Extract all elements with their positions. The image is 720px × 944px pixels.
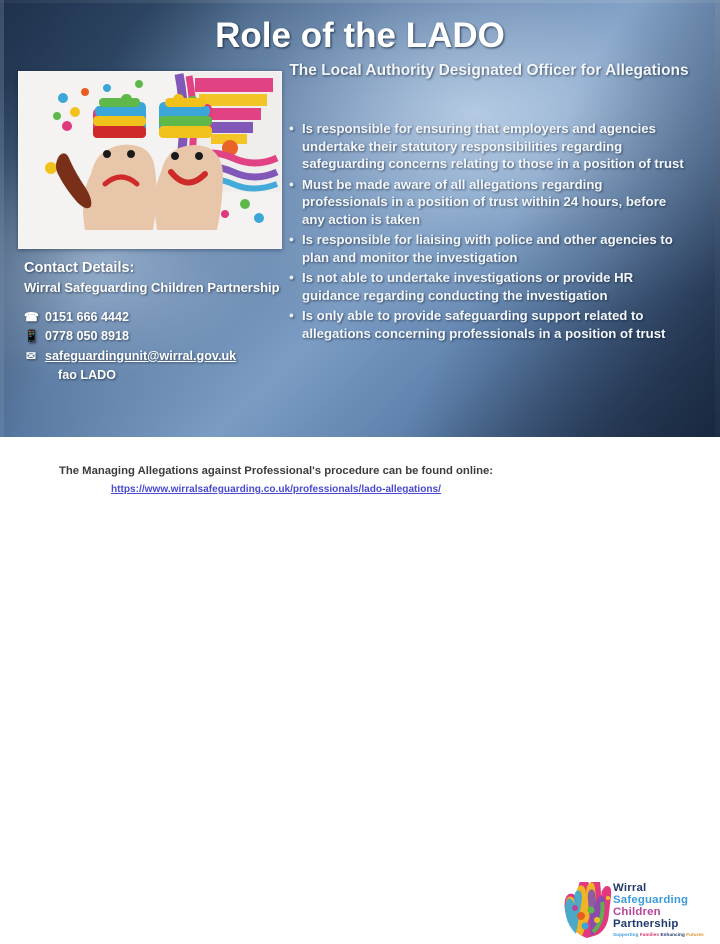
- logo-line-wirral: Wirral: [613, 883, 713, 895]
- attention-line: fao LADO: [58, 366, 284, 385]
- logo-line-children: Children: [613, 907, 713, 919]
- slide-footer: The Managing Allegations against Profess…: [0, 437, 720, 516]
- list-item: Is only able to provide safeguarding sup…: [302, 307, 688, 342]
- painted-hands-photo: [18, 71, 282, 249]
- tagline-word-1: Supporting: [613, 932, 639, 937]
- logo-wordmark: Wirral Safeguarding Children Partnership…: [613, 883, 713, 937]
- list-item: Must be made aware of all allegations re…: [302, 176, 688, 229]
- logo-tagline: Supporting Families Enhancing Futures: [613, 932, 713, 937]
- telephone-row: ☎ 0151 666 4442: [24, 308, 284, 328]
- footer-note-text: The Managing Allegations against Profess…: [59, 465, 493, 477]
- tagline-word-3: Enhancing: [660, 932, 684, 937]
- slide-title: Role of the LADO: [0, 16, 720, 56]
- panel-top-edge: [0, 0, 720, 3]
- mobile-row: 📱 0778 050 8918: [24, 327, 284, 347]
- tagline-word-4: Futures: [686, 932, 704, 937]
- mobile-phone-icon: 📱: [24, 327, 38, 346]
- wirral-safeguarding-logo: Wirral Safeguarding Children Partnership…: [561, 882, 713, 944]
- contact-details-block: Contact Details: Wirral Safeguarding Chi…: [24, 258, 284, 385]
- procedure-link[interactable]: https://www.wirralsafeguarding.co.uk/pro…: [22, 482, 530, 497]
- list-item: Is responsible for ensuring that employe…: [302, 120, 688, 173]
- contact-lines: ☎ 0151 666 4442 📱 0778 050 8918 ✉ safegu…: [24, 308, 284, 385]
- mobile-number: 0778 050 8918: [45, 327, 129, 347]
- presentation-slide: Role of the LADO The Local Authority Des…: [0, 0, 720, 516]
- slide-subtitle: The Local Authority Designated Officer f…: [288, 61, 690, 81]
- multicolour-hand-icon: [561, 882, 617, 940]
- panel-right-edge: [715, 0, 720, 437]
- email-icon: ✉: [24, 347, 38, 366]
- logo-line-safeguarding: Safeguarding: [613, 895, 713, 907]
- logo-line-partnership: Partnership: [613, 919, 713, 931]
- list-item: Is responsible for liaising with police …: [302, 231, 688, 266]
- contact-organisation: Wirral Safeguarding Children Partnership: [24, 279, 284, 297]
- responsibilities-list: Is responsible for ensuring that employe…: [286, 120, 688, 346]
- telephone-number: 0151 666 4442: [45, 308, 129, 328]
- panel-left-edge: [0, 0, 4, 437]
- list-item: Is not able to undertake investigations …: [302, 269, 688, 304]
- tagline-word-2: Families: [640, 932, 659, 937]
- email-row: ✉ safeguardingunit@wirral.gov.uk: [24, 347, 284, 367]
- telephone-icon: ☎: [24, 308, 38, 327]
- footer-note: The Managing Allegations against Profess…: [22, 463, 530, 497]
- email-link[interactable]: safeguardingunit@wirral.gov.uk: [45, 347, 236, 367]
- contact-heading: Contact Details:: [24, 258, 284, 278]
- painted-hands-illustration: [19, 72, 281, 248]
